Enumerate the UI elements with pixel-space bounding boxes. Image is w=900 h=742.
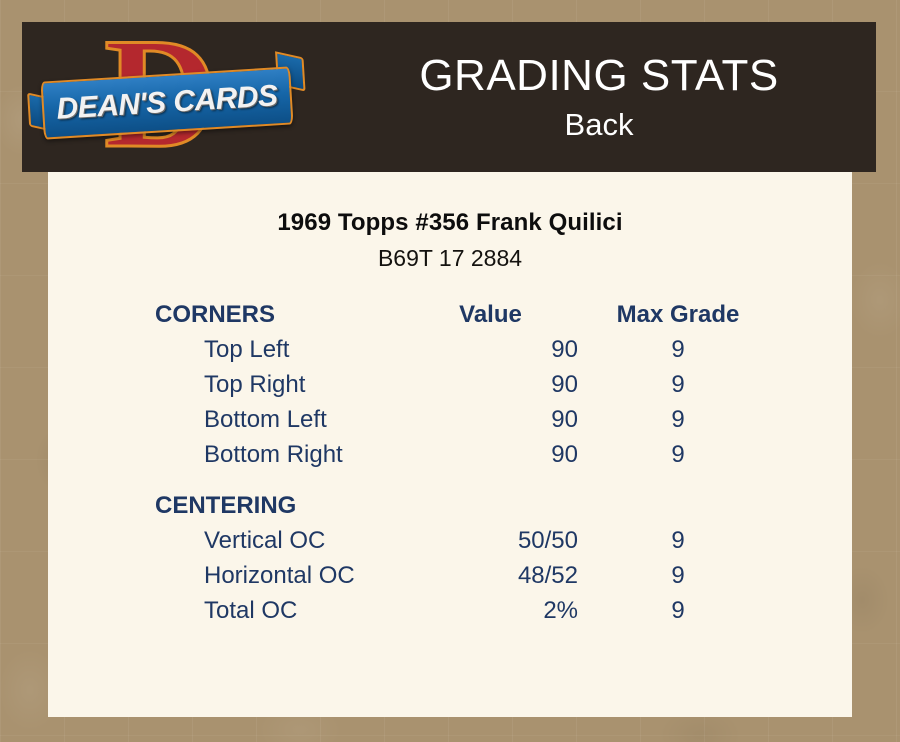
row-label: Top Left [48, 336, 403, 364]
row-label: Bottom Left [48, 406, 403, 434]
page-title: GRADING STATS [419, 49, 778, 103]
header-titles: GRADING STATS Back [322, 22, 876, 172]
card-serial-number: B69T 17 2884 [48, 237, 852, 272]
row-max-grade: 9 [578, 597, 778, 625]
row-max-grade: 9 [578, 336, 778, 364]
row-max-grade: 9 [578, 562, 778, 590]
section-header-row: CENTERING [48, 492, 852, 527]
table-row: Top Left909 [48, 336, 852, 371]
table-row: Top Right909 [48, 371, 852, 406]
row-value: 90 [403, 336, 578, 364]
section-title: CORNERS [48, 301, 403, 329]
section-title: CENTERING [48, 492, 403, 520]
header-bar: D DEAN'S CARDS GRADING STATS Back [22, 22, 876, 172]
row-max-grade: 9 [578, 441, 778, 469]
table-row: Vertical OC50/509 [48, 527, 852, 562]
column-header-max-grade: Max Grade [578, 301, 778, 329]
row-label: Horizontal OC [48, 562, 403, 590]
row-max-grade: 9 [578, 527, 778, 555]
row-value: 90 [403, 371, 578, 399]
row-value: 2% [403, 597, 578, 625]
logo-ribbon: DEAN'S CARDS [40, 66, 293, 139]
table-row: Bottom Left909 [48, 406, 852, 441]
row-label: Vertical OC [48, 527, 403, 555]
logo-wordmark: DEAN'S CARDS [40, 66, 293, 139]
row-label: Total OC [48, 597, 403, 625]
row-label: Bottom Right [48, 441, 403, 469]
stats-section: CENTERINGVertical OC50/509Horizontal OC4… [48, 492, 852, 632]
row-value: 90 [403, 406, 578, 434]
card-title: 1969 Topps #356 Frank Quilici [48, 172, 852, 237]
row-max-grade: 9 [578, 406, 778, 434]
content-panel: 1969 Topps #356 Frank Quilici B69T 17 28… [48, 172, 852, 717]
stats-section: CORNERSValueMax GradeTop Left909Top Righ… [48, 301, 852, 476]
page-subtitle: Back [565, 105, 634, 145]
section-header-row: CORNERSValueMax Grade [48, 301, 852, 336]
row-label: Top Right [48, 371, 403, 399]
row-value: 50/50 [403, 527, 578, 555]
row-max-grade: 9 [578, 371, 778, 399]
table-row: Bottom Right909 [48, 441, 852, 476]
grading-stats-table: CORNERSValueMax GradeTop Left909Top Righ… [48, 301, 852, 632]
row-value: 90 [403, 441, 578, 469]
column-header-value: Value [403, 301, 578, 329]
row-value: 48/52 [403, 562, 578, 590]
deans-cards-logo: D DEAN'S CARDS [42, 28, 292, 168]
table-row: Total OC2%9 [48, 597, 852, 632]
table-row: Horizontal OC48/529 [48, 562, 852, 597]
